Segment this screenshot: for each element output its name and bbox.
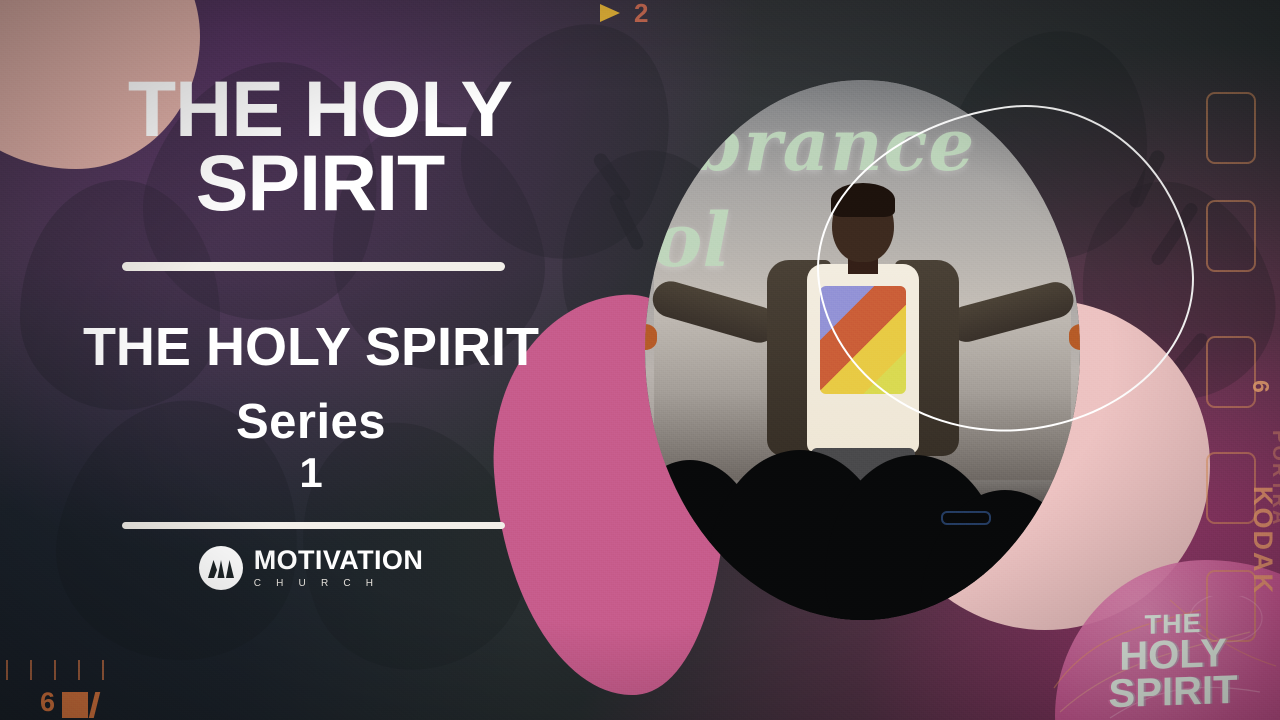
speaker-figure [698, 186, 1028, 516]
series-watermark: THE HOLY SPIRIT [1088, 609, 1258, 713]
logo-subtitle: C H U R C H [254, 579, 379, 589]
film-bottom-marker-block [62, 692, 88, 718]
speaker-right-hand [1069, 324, 1081, 350]
film-bottom-frame-number: 6 [40, 687, 55, 718]
logo-name: MOTIVATION [254, 547, 423, 574]
divider-top [122, 262, 505, 271]
church-logo: MOTIVATION C H U R C H [22, 546, 600, 590]
page-title: THE HOLY SPIRIT [40, 72, 600, 221]
film-frame-arrow-icon [600, 4, 620, 22]
film-top-frame-number: 2 [634, 0, 648, 29]
motivation-m-monogram-icon [199, 546, 243, 590]
series-number: 1 [22, 452, 600, 494]
sermon-title-slide: nbrance ol [0, 0, 1280, 720]
film-tick-marks [4, 658, 124, 680]
speaker-hair [831, 183, 895, 217]
projected-script-line-1: nbrance [645, 102, 975, 187]
audience-glasses-icon [941, 511, 991, 525]
series-label: Series [22, 398, 600, 447]
watermark-line-3: SPIRIT [1088, 671, 1258, 714]
speaker-on-stage-photo: nbrance ol [645, 80, 1080, 620]
divider-bottom [122, 522, 505, 529]
series-title: THE HOLY SPIRIT [22, 320, 600, 374]
speaker-shirt-graphic [820, 286, 906, 394]
logo-text-block: MOTIVATION C H U R C H [254, 547, 423, 589]
